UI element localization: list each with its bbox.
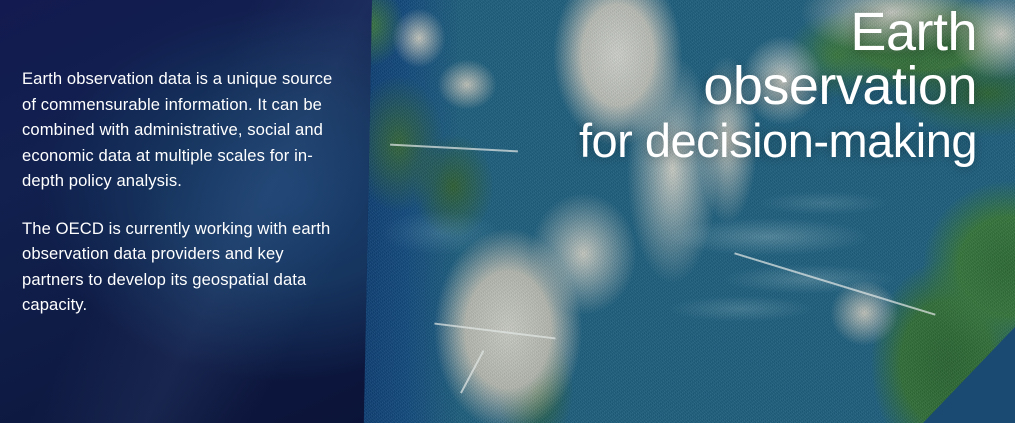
slide-root: Earth observation data is a unique sourc… <box>0 0 1015 423</box>
title-line-1: Earth <box>579 6 977 58</box>
title-line-2: observation <box>579 58 977 114</box>
body-paragraph-1: Earth observation data is a unique sourc… <box>22 66 344 194</box>
title-line-3: for decision-making <box>579 114 977 168</box>
page-title: Earth observation for decision-making <box>579 6 977 168</box>
body-copy: Earth observation data is a unique sourc… <box>22 66 344 318</box>
body-paragraph-2: The OECD is currently working with earth… <box>22 216 344 318</box>
